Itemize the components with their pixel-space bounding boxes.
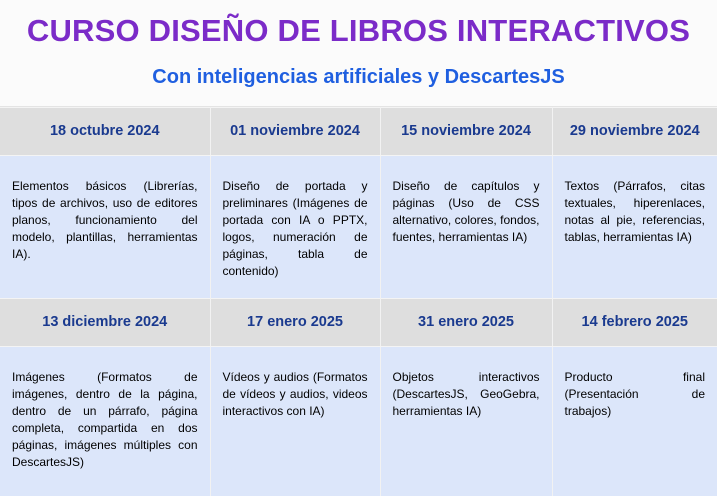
topic-cell: Producto final (Presentación de trabajos… <box>552 346 717 496</box>
topic-cell: Elementos básicos (Librerías, tipos de a… <box>0 155 210 298</box>
date-header-cell: 29 noviembre 2024 <box>552 107 717 155</box>
date-label: 18 octubre 2024 <box>0 123 210 139</box>
date-header-cell: 18 octubre 2024 <box>0 107 210 155</box>
topic-row-1: Elementos básicos (Librerías, tipos de a… <box>0 155 717 298</box>
date-label: 29 noviembre 2024 <box>553 123 717 139</box>
date-header-cell: 17 enero 2025 <box>210 298 380 346</box>
date-header-row-1: 18 octubre 2024 01 noviembre 2024 15 nov… <box>0 107 717 155</box>
date-header-cell: 01 noviembre 2024 <box>210 107 380 155</box>
topic-cell: Textos (Párrafos, citas textuales, hiper… <box>552 155 717 298</box>
date-header-row-2: 13 diciembre 2024 17 enero 2025 31 enero… <box>0 298 717 346</box>
topic-text: Diseño de capítulos y páginas (Uso de CS… <box>393 178 540 246</box>
topic-cell: Diseño de capítulos y páginas (Uso de CS… <box>380 155 552 298</box>
date-label: 15 noviembre 2024 <box>381 123 552 139</box>
page-title: CURSO DISEÑO DE LIBROS INTERACTIVOS <box>0 14 717 49</box>
date-label: 14 febrero 2025 <box>553 314 717 330</box>
date-header-cell: 31 enero 2025 <box>380 298 552 346</box>
title-block: CURSO DISEÑO DE LIBROS INTERACTIVOS Con … <box>0 0 717 89</box>
topic-text: Vídeos y audios (Formatos de vídeos y au… <box>223 369 368 420</box>
date-label: 01 noviembre 2024 <box>211 123 380 139</box>
date-header-cell: 15 noviembre 2024 <box>380 107 552 155</box>
topic-cell: Objetos interactivos (DescartesJS, GeoGe… <box>380 346 552 496</box>
page-subtitle: Con inteligencias artificiales y Descart… <box>0 49 717 89</box>
topic-text: Imágenes (Formatos de imágenes, dentro d… <box>12 369 198 471</box>
topic-text: Diseño de portada y preliminares (Imágen… <box>223 178 368 280</box>
topic-cell: Vídeos y audios (Formatos de vídeos y au… <box>210 346 380 496</box>
topic-text: Textos (Párrafos, citas textuales, hiper… <box>565 178 706 246</box>
topic-cell: Imágenes (Formatos de imágenes, dentro d… <box>0 346 210 496</box>
date-label: 17 enero 2025 <box>211 314 380 330</box>
date-label: 13 diciembre 2024 <box>0 314 210 330</box>
date-header-cell: 13 diciembre 2024 <box>0 298 210 346</box>
topic-row-2: Imágenes (Formatos de imágenes, dentro d… <box>0 346 717 496</box>
topic-cell: Diseño de portada y preliminares (Imágen… <box>210 155 380 298</box>
schedule-table: 18 octubre 2024 01 noviembre 2024 15 nov… <box>0 107 717 496</box>
topic-text: Elementos básicos (Librerías, tipos de a… <box>12 178 198 263</box>
date-header-cell: 14 febrero 2025 <box>552 298 717 346</box>
course-schedule-page: CURSO DISEÑO DE LIBROS INTERACTIVOS Con … <box>0 0 717 453</box>
topic-text: Objetos interactivos (DescartesJS, GeoGe… <box>393 369 540 420</box>
date-label: 31 enero 2025 <box>381 314 552 330</box>
topic-text: Producto final (Presentación de trabajos… <box>565 369 706 420</box>
